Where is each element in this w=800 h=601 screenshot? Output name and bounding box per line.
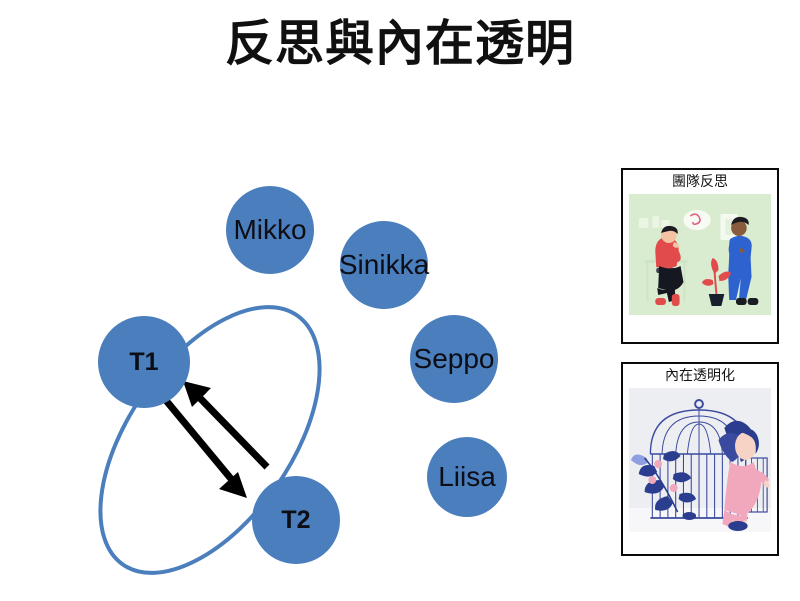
card-caption-team-reflection: 團隊反思 <box>623 170 777 194</box>
node-label-t2: T2 <box>281 508 310 533</box>
card-inner-transparency[interactable]: 內在透明化 <box>621 362 779 556</box>
node-t1[interactable]: T1 <box>98 316 190 408</box>
card-caption-inner-transparency: 內在透明化 <box>623 364 777 388</box>
node-t2[interactable]: T2 <box>252 476 340 564</box>
two-people-thinking-illustration <box>629 194 771 315</box>
node-label-t1: T1 <box>129 350 158 375</box>
node-label-seppo: Seppo <box>414 345 495 373</box>
node-sinikka[interactable]: Sinikka <box>340 221 428 309</box>
node-seppo[interactable]: Seppo <box>410 315 498 403</box>
arrow-t2-to-t1 <box>183 381 267 467</box>
slide-canvas: 反思與內在透明 Mikko Sinikka Seppo <box>0 0 800 601</box>
node-label-sinikka: Sinikka <box>339 251 429 279</box>
node-mikko[interactable]: Mikko <box>226 186 314 274</box>
arrow-t1-to-t2 <box>159 392 247 498</box>
woman-birdcage-illustration <box>629 388 771 532</box>
node-liisa[interactable]: Liisa <box>427 437 507 517</box>
card-team-reflection[interactable]: 團隊反思 <box>621 168 779 344</box>
team-reflection-diagram: Mikko Sinikka Seppo Liisa T1 T2 <box>0 120 600 601</box>
node-label-liisa: Liisa <box>438 463 496 491</box>
node-label-mikko: Mikko <box>233 216 306 244</box>
page-title: 反思與內在透明 <box>0 16 800 72</box>
